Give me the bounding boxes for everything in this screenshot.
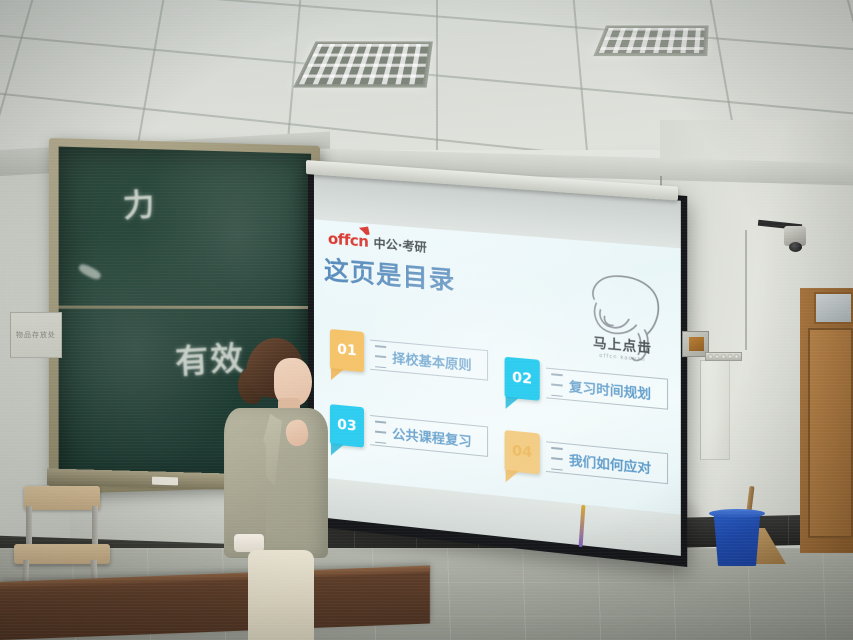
card-number: 02 <box>512 370 532 388</box>
card-label: 我们如何应对 <box>569 449 651 477</box>
blue-bucket[interactable] <box>712 512 762 566</box>
projection-screen-surface: offcn 中公·考研 这页是目录 <box>314 173 681 555</box>
tick-marks-icon <box>375 421 386 444</box>
ceiling-light-icon <box>593 25 708 56</box>
projection-screen: offcn 中公·考研 这页是目录 <box>308 168 687 567</box>
chalk-writing-top: 力 <box>121 179 158 226</box>
wall-sign: 物品存放处 <box>10 312 62 358</box>
agenda-card[interactable]: 03 公共课程复习 <box>330 404 488 460</box>
light-switch-panel[interactable] <box>705 352 742 361</box>
chair-backrest <box>24 486 100 510</box>
wall-sign-label: 物品存放处 <box>16 330 56 340</box>
card-label: 复习时间规划 <box>569 375 651 402</box>
tick-marks-icon <box>551 447 562 471</box>
board-eraser <box>152 477 178 486</box>
tick-marks-icon <box>375 345 386 368</box>
card-number-tag: 04 <box>505 430 540 474</box>
wall-cable <box>745 230 747 350</box>
door-panel <box>808 328 853 538</box>
card-number-tag: 02 <box>505 357 540 401</box>
card-label-box: 我们如何应对 <box>546 441 668 484</box>
door[interactable] <box>800 288 853 553</box>
tick-marks-icon <box>551 373 562 397</box>
agenda-card[interactable]: 02 复习时间规划 <box>505 357 668 413</box>
ceiling-light-icon <box>293 41 433 87</box>
agenda-card[interactable]: 04 我们如何应对 <box>505 430 668 487</box>
card-label: 择校基本原则 <box>392 347 471 373</box>
camera-lens-icon <box>789 242 802 252</box>
chair-leg <box>26 506 32 548</box>
bucket-rim <box>709 509 765 518</box>
card-number: 04 <box>512 443 532 461</box>
card-label-box: 择校基本原则 <box>370 340 488 381</box>
card-label-box: 复习时间规划 <box>546 368 668 410</box>
slide-title: 这页是目录 <box>324 250 455 297</box>
offcn-logo-icon: offcn <box>328 230 369 251</box>
door-glass-panel <box>814 292 853 324</box>
card-label: 公共课程复习 <box>392 423 471 450</box>
presenter <box>212 338 342 640</box>
wall-panel <box>700 360 730 460</box>
blackboard-divider <box>59 306 311 309</box>
classroom-scene: 力 有效 物品存放处 offcn 中公·考研 这页是目录 <box>0 0 853 640</box>
brand-name-cn: 中公·考研 <box>373 234 426 255</box>
card-label-box: 公共课程复习 <box>370 415 488 457</box>
chair-leg <box>92 506 98 548</box>
trousers <box>248 550 314 640</box>
agenda-card[interactable]: 01 择校基本原则 <box>330 329 488 384</box>
